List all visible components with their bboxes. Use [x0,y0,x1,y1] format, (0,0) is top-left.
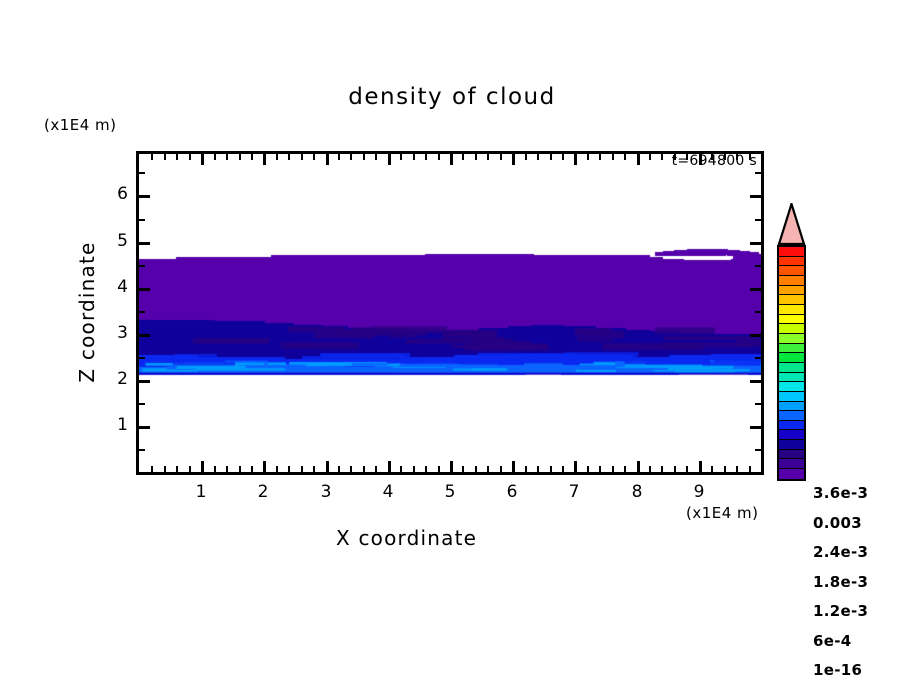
x-minor-tick [301,466,303,472]
x-minor-tick [176,466,178,472]
x-minor-tick [661,466,663,472]
colorbar-label: 2.4e-3 [813,543,868,561]
x-minor-tick [363,154,365,160]
x-major-tick [263,154,266,165]
page-title: density of cloud [0,84,904,110]
x-minor-tick [487,466,489,472]
x-tick-label: 7 [559,482,589,502]
x-minor-tick [375,154,377,160]
x-minor-tick [599,154,601,160]
x-minor-tick [413,154,415,160]
x-tick-label: 8 [622,482,652,502]
colorbar-label: 6e-4 [813,632,851,650]
x-minor-tick [500,466,502,472]
x-minor-tick [313,466,315,472]
colorbar-band [779,295,804,305]
timestamp-annotation: t=694800 s [672,153,757,169]
x-major-tick [637,154,640,165]
x-minor-tick [724,466,726,472]
y-major-tick [750,242,761,245]
x-minor-tick [151,466,153,472]
x-major-tick [201,154,204,165]
x-minor-tick [587,466,589,472]
x-minor-tick [251,466,253,472]
colorbar-label: 1.8e-3 [813,573,868,591]
x-minor-tick [649,154,651,160]
colorbar-band [779,411,804,421]
y-tick-label: 1 [98,415,128,435]
x-major-tick [263,461,266,472]
x-major-tick [699,154,702,165]
x-minor-tick [276,154,278,160]
colorbar-band [779,257,804,267]
colorbar-bands [777,245,806,481]
x-minor-tick [736,154,738,160]
x-major-tick [326,154,329,165]
colorbar-band [779,363,804,373]
y-major-tick [139,334,150,337]
x-major-tick [574,154,577,165]
x-minor-tick [674,154,676,160]
y-major-tick [139,195,150,198]
y-major-tick [750,288,761,291]
colorbar-band [779,450,804,460]
x-tick-label: 2 [248,482,278,502]
x-major-tick [512,154,515,165]
x-minor-tick [313,154,315,160]
x-minor-tick [288,154,290,160]
y-minor-tick [139,265,145,267]
x-minor-tick [686,154,688,160]
x-minor-tick [525,154,527,160]
x-minor-tick [562,154,564,160]
y-minor-tick [139,449,145,451]
x-minor-tick [749,466,751,472]
x-minor-tick [550,466,552,472]
y-minor-tick [755,172,761,174]
x-minor-tick [562,466,564,472]
colorbar-band [779,286,804,296]
y-tick-label: 6 [98,184,128,204]
x-minor-tick [338,466,340,472]
x-minor-tick [214,154,216,160]
x-minor-tick [711,466,713,472]
plot-area: t=694800 s [136,151,764,475]
x-axis-title: X coordinate [336,526,477,550]
y-tick-label: 4 [98,277,128,297]
y-minor-tick [139,357,145,359]
x-minor-tick [226,154,228,160]
x-minor-tick [151,154,153,160]
colorbar-band [779,315,804,325]
y-minor-tick [755,403,761,405]
x-minor-tick [599,466,601,472]
y-minor-tick [139,219,145,221]
colorbar-band [779,247,804,257]
y-minor-tick [755,265,761,267]
x-minor-tick [686,466,688,472]
x-minor-tick [164,154,166,160]
x-minor-tick [736,466,738,472]
x-minor-tick [189,154,191,160]
contour-plot-canvas [139,154,761,472]
colorbar-band [779,334,804,344]
y-minor-tick [755,311,761,313]
colorbar-band [779,392,804,402]
y-major-tick [750,334,761,337]
colorbar-band [779,421,804,431]
x-minor-tick [624,466,626,472]
y-minor-tick [139,172,145,174]
x-minor-tick [462,154,464,160]
x-minor-tick [226,466,228,472]
x-minor-tick [251,154,253,160]
x-minor-tick [438,154,440,160]
colorbar-band [779,305,804,315]
x-minor-tick [438,466,440,472]
x-minor-tick [350,154,352,160]
x-major-tick [450,154,453,165]
x-minor-tick [612,154,614,160]
x-minor-tick [375,466,377,472]
y-axis-title: Z coordinate [75,212,99,412]
x-minor-tick [276,466,278,472]
x-minor-tick [537,154,539,160]
colorbar-label: 1e-16 [813,661,862,679]
y-minor-tick [139,403,145,405]
y-tick-label: 5 [98,231,128,251]
x-minor-tick [400,466,402,472]
x-minor-tick [350,466,352,472]
x-minor-tick [475,466,477,472]
y-major-tick [750,195,761,198]
colorbar-band [779,324,804,334]
x-minor-tick [400,154,402,160]
x-minor-tick [176,154,178,160]
x-minor-tick [487,154,489,160]
y-minor-tick [755,219,761,221]
x-tick-label: 5 [435,482,465,502]
x-major-tick [201,461,204,472]
colorbar-label: 1.2e-3 [813,602,868,620]
y-major-tick [139,242,150,245]
x-minor-tick [475,154,477,160]
x-major-tick [637,461,640,472]
colorbar-arrow-icon [777,203,806,245]
y-minor-tick [755,357,761,359]
y-major-tick [750,380,761,383]
colorbar-band [779,353,804,363]
y-tick-label: 2 [98,369,128,389]
colorbar-label: 0.003 [813,514,862,532]
x-minor-tick [462,466,464,472]
x-minor-tick [500,154,502,160]
x-tick-label: 3 [311,482,341,502]
x-minor-tick [413,466,415,472]
x-minor-tick [363,466,365,472]
x-minor-tick [649,466,651,472]
colorbar-band [779,402,804,412]
y-minor-tick [139,311,145,313]
x-major-tick [326,461,329,472]
y-tick-label: 3 [98,323,128,343]
x-minor-tick [338,154,340,160]
x-minor-tick [661,154,663,160]
y-major-tick [139,380,150,383]
colorbar-band [779,266,804,276]
x-minor-tick [711,154,713,160]
x-minor-tick [425,466,427,472]
x-major-tick [574,461,577,472]
x-tick-label: 4 [373,482,403,502]
colorbar-band [779,276,804,286]
colorbar-band [779,382,804,392]
colorbar-band [779,469,804,479]
y-major-tick [139,426,150,429]
x-minor-tick [724,154,726,160]
x-major-tick [450,461,453,472]
y-minor-tick [755,449,761,451]
figure-root: density of cloud (x1E4 m) (x1E4 m) X coo… [0,0,904,654]
colorbar-label: 3.6e-3 [813,484,868,502]
y-axis-unit-label: (x1E4 m) [44,116,117,134]
x-minor-tick [214,466,216,472]
x-minor-tick [674,466,676,472]
x-minor-tick [550,154,552,160]
x-axis-unit-label: (x1E4 m) [686,504,759,522]
x-minor-tick [239,466,241,472]
colorbar-band [779,459,804,469]
x-major-tick [388,461,391,472]
x-minor-tick [749,154,751,160]
colorbar-band [779,344,804,354]
x-minor-tick [537,466,539,472]
x-minor-tick [301,154,303,160]
colorbar-band [779,430,804,440]
x-minor-tick [525,466,527,472]
y-major-tick [750,426,761,429]
x-minor-tick [189,466,191,472]
colorbar-band [779,373,804,383]
x-major-tick [388,154,391,165]
x-minor-tick [612,466,614,472]
y-major-tick [139,288,150,291]
x-minor-tick [164,466,166,472]
colorbar-band [779,440,804,450]
x-tick-label: 9 [684,482,714,502]
x-major-tick [512,461,515,472]
x-tick-label: 1 [186,482,216,502]
x-major-tick [699,461,702,472]
x-minor-tick [587,154,589,160]
x-minor-tick [624,154,626,160]
x-minor-tick [425,154,427,160]
x-minor-tick [288,466,290,472]
x-tick-label: 6 [497,482,527,502]
x-minor-tick [239,154,241,160]
